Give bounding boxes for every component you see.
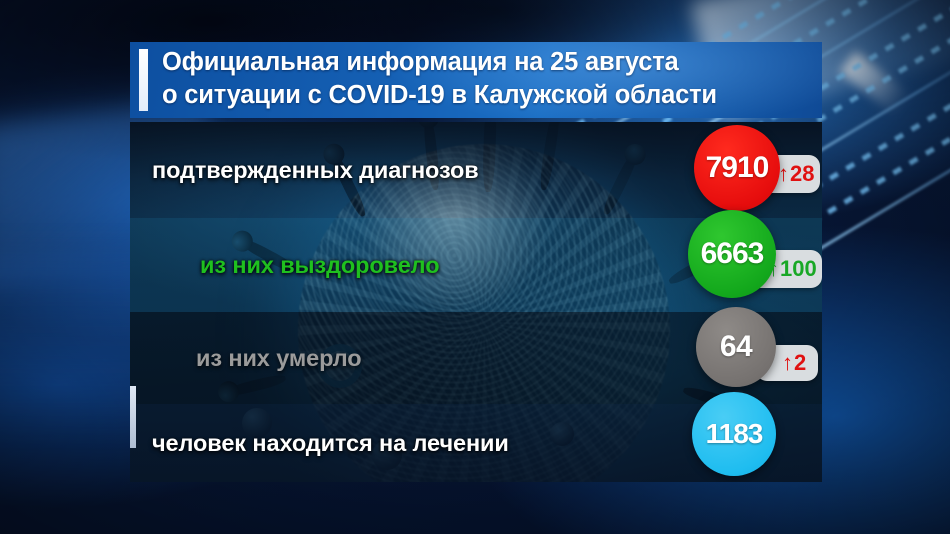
stat-metric-recovered: ↑ 100 6663 [680, 222, 820, 308]
statistics-panel: подтвержденных диагнозов ↑ 28 7910 из ни… [130, 122, 822, 482]
stat-metric-confirmed: ↑ 28 7910 [680, 127, 820, 213]
delta-value-recovered: 100 [780, 258, 817, 280]
delta-value-confirmed: 28 [790, 163, 814, 185]
stat-metric-deaths: ↑ 2 64 [680, 315, 820, 401]
stat-value-recovered: 6663 [701, 239, 764, 269]
stat-label-confirmed: подтвержденных диагнозов [152, 157, 479, 184]
title-accent-bar [139, 49, 148, 111]
stat-circle-recovered: 6663 [688, 210, 776, 298]
stat-circle-deaths: 64 [696, 307, 776, 387]
stat-row-treatment: человек находится на лечении 1183 [130, 404, 822, 482]
row-accent-bar [130, 386, 136, 448]
stat-value-treatment: 1183 [706, 420, 763, 448]
title-line-2: о ситуации с COVID-19 в Калужской област… [162, 79, 717, 112]
stat-label-recovered: из них выздоровело [200, 252, 439, 279]
stat-row-deaths: из них умерло ↑ 2 64 [130, 312, 822, 404]
stat-label-treatment: человек находится на лечении [152, 430, 509, 457]
title-line-1: Официальная информация на 25 августа [162, 46, 717, 79]
stat-row-confirmed: подтвержденных диагнозов ↑ 28 7910 [130, 122, 822, 218]
delta-value-deaths: 2 [794, 352, 806, 374]
stat-metric-treatment: 1183 [680, 400, 820, 482]
stat-row-recovered: из них выздоровело ↑ 100 6663 [130, 218, 822, 312]
stat-circle-confirmed: 7910 [694, 125, 780, 211]
infographic-slide: Официальная информация на 25 августа о с… [0, 0, 950, 534]
page-title: Официальная информация на 25 августа о с… [162, 46, 717, 114]
stat-label-deaths: из них умерло [196, 345, 362, 372]
arrow-up-icon: ↑ [782, 352, 793, 374]
title-band: Официальная информация на 25 августа о с… [130, 42, 822, 118]
stat-value-confirmed: 7910 [706, 153, 769, 183]
stat-circle-treatment: 1183 [692, 392, 776, 476]
stat-value-deaths: 64 [720, 332, 752, 362]
